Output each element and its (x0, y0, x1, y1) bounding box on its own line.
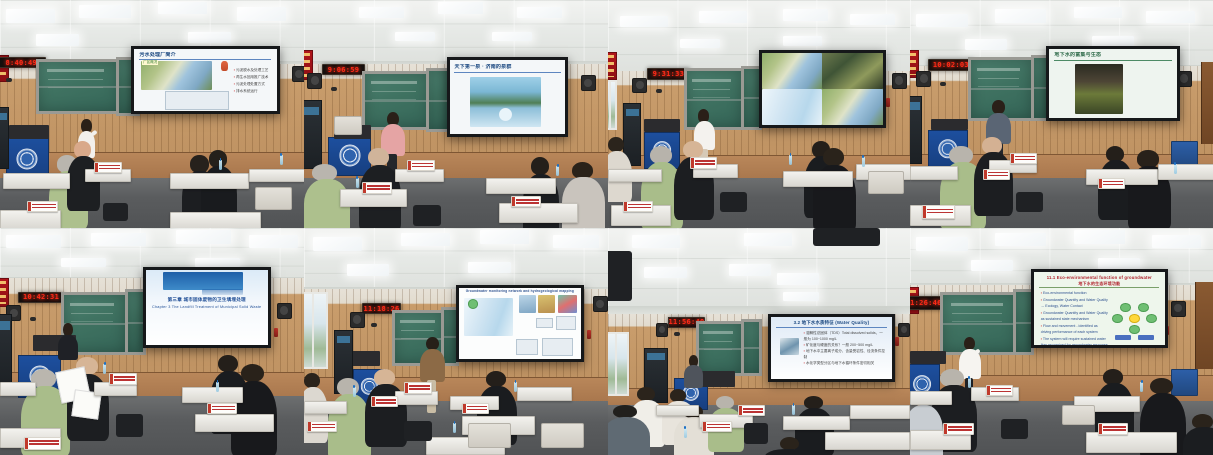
ceiling-light (850, 14, 895, 25)
water-bottle (103, 364, 106, 374)
nameplate (1010, 153, 1037, 164)
ceiling-light (188, 32, 231, 43)
ceiling-light (6, 235, 61, 249)
wall-banner (608, 52, 617, 79)
ceiling-light (347, 264, 390, 275)
slide-bullet: 水化学类型分区与地下水循环条件密切相关 (804, 360, 886, 366)
projection-screen-frame (759, 50, 886, 128)
nameplate (702, 421, 732, 432)
wall-speaker (892, 73, 907, 89)
slide-title: 3.2 地下水水质特征 (Water Quality) (776, 320, 887, 326)
chalkboard (741, 319, 762, 376)
backpack (103, 203, 127, 221)
desk (0, 210, 61, 228)
ceiling-light (777, 273, 819, 284)
wall-banner (0, 278, 9, 308)
nameplate (94, 162, 121, 173)
ceiling-light (783, 36, 822, 45)
ceiling-light (61, 258, 107, 267)
ceiling-light (744, 233, 792, 247)
desk (1086, 432, 1177, 452)
podium-monitor (644, 119, 680, 133)
ceiling-light (620, 16, 668, 27)
ceiling-light (492, 32, 532, 41)
desk (910, 391, 952, 405)
water-bottle (280, 155, 283, 165)
slide-title: 天下第一泉 · 济南的泉群 (454, 64, 560, 70)
slide-title: 11.1 Eco-environmental function of groun… (1039, 275, 1159, 280)
ceiling-light (553, 235, 599, 249)
led-clock-time: 9:06:59 (328, 66, 360, 74)
wall-speaker (292, 66, 304, 82)
ceiling-light (176, 230, 231, 244)
projection-screen: 污水处理厂简介 厂区概况 污泥脱水及处理工艺 再生水回用推广技术 污泥处理处置方… (134, 49, 277, 111)
slide-figure (1075, 64, 1123, 114)
photo-panel-1[interactable]: 8:40:49 污水处理厂简介 厂区概况 污泥脱水及处理工艺 再生水回用推广技术… (0, 0, 304, 228)
ceiling-light (1074, 7, 1122, 18)
chair (541, 423, 584, 448)
ceiling-light (195, 258, 241, 267)
ceiling-projector (813, 228, 879, 246)
nameplate (623, 201, 653, 212)
diagram-label (1115, 335, 1131, 340)
slide-bullet: 溶解性总固体（TDS）Total dissolved solids，一般为 10… (804, 330, 886, 342)
camera-icon (30, 317, 36, 321)
projection-screen-frame: 污水处理厂简介 厂区概况 污泥脱水及处理工艺 再生水回用推广技术 污泥处理处置方… (131, 46, 280, 114)
nameplate (943, 423, 973, 434)
chair (334, 116, 361, 134)
chair (1062, 405, 1095, 425)
door (1195, 282, 1213, 368)
ceiling-light (1074, 230, 1126, 244)
audience-member (1183, 414, 1213, 455)
water-bottle (792, 405, 795, 415)
slide-rule (454, 72, 560, 73)
slide-figure (141, 61, 212, 90)
ceiling-light (916, 14, 968, 28)
diagram-node (1129, 314, 1139, 323)
diagram-node (1129, 325, 1139, 334)
window (608, 80, 617, 130)
backpack (404, 421, 431, 441)
desk (825, 432, 910, 450)
water-bottle (356, 178, 359, 188)
ceiling-light (468, 262, 511, 273)
equipment-rack (304, 100, 322, 168)
backpack (1016, 192, 1043, 213)
photo-panel-8[interactable]: 11:26:46 11.1 Eco-environmental function… (910, 228, 1213, 455)
nameplate (207, 403, 237, 414)
figure-person-icon (221, 61, 228, 71)
podium-monitor (910, 351, 946, 365)
audience-member (1128, 150, 1170, 228)
nameplate (986, 385, 1013, 396)
nameplate (407, 160, 434, 171)
fire-extinguisher-icon (886, 98, 890, 107)
nameplate (983, 169, 1010, 180)
slide-figure (542, 338, 574, 357)
slide-rule (1054, 60, 1171, 61)
projection-screen-frame: Groundwater monitoring network and hydro… (456, 285, 584, 362)
nameplate (690, 157, 717, 168)
slide-rule (139, 59, 271, 60)
desk (182, 387, 243, 403)
projection-screen: 地下水的富集与生态 (1049, 49, 1176, 118)
ceiling-light (6, 9, 55, 23)
photo-collage: 8:40:49 污水处理厂简介 厂区概况 污泥脱水及处理工艺 再生水回用推广技术… (0, 0, 1213, 455)
slide-bullet: Flow and movement - identified as drivin… (1041, 323, 1109, 336)
ceiling-light (995, 9, 1047, 23)
desk (195, 414, 274, 432)
wall-speaker (581, 75, 596, 91)
led-clock-time: 9:31:33 (653, 70, 685, 78)
slide-bullet: 污泥脱水及处理工艺 (234, 67, 273, 74)
diagram-node (1120, 303, 1130, 312)
camera-icon (656, 89, 662, 93)
projection-screen: 3.2 地下水水质特征 (Water Quality) 溶解性总固体（TDS）T… (771, 317, 892, 379)
slide-bullet: 再生水回用推广技术 (234, 74, 273, 81)
water-bottle (453, 423, 456, 433)
ceiling-light (783, 292, 819, 301)
projection-screen-frame: 第三章 城市固体废物的卫生填埋处理 Chapter 3 The Landfill… (143, 267, 271, 349)
ceiling-light (916, 237, 968, 251)
water-bottle (514, 382, 517, 392)
nameplate (738, 405, 765, 416)
wall-speaker (277, 303, 292, 319)
projection-screen-frame: 地下水的富集与生态 (1046, 46, 1179, 121)
photo-panel-5[interactable]: 10:42:31 第三章 城市固体废物的卫生填埋处理 Chapter 3 The… (0, 228, 304, 455)
slide-subtitle: 地下水的生态环境功能 (1039, 281, 1159, 286)
presenter (684, 355, 705, 387)
ceiling-light (517, 7, 563, 18)
water-bottle (1140, 382, 1143, 392)
projection-screen: 11.1 Eco-environmental function of groun… (1034, 272, 1164, 345)
diagram-node (1112, 314, 1122, 323)
diagram-label (1138, 335, 1154, 340)
backpack (116, 414, 143, 437)
ceiling-light (480, 230, 529, 244)
nameplate (1098, 178, 1125, 189)
audience-member (365, 369, 408, 446)
slide-bullet: Groundwater Quantity and Water Quality a… (1041, 310, 1109, 323)
university-seal-icon (17, 148, 38, 169)
backpack (1001, 419, 1028, 439)
slide-title: 第三章 城市固体废物的卫生填埋处理 (151, 297, 263, 303)
equipment-rack (910, 96, 922, 164)
slide-bullet: 污泥处理处置方式 (234, 81, 273, 88)
equipment-rack (0, 107, 9, 169)
desk (3, 173, 70, 189)
audience-member (608, 405, 650, 455)
nameplate (1098, 423, 1128, 434)
wall-speaker (1171, 301, 1186, 317)
desk (486, 178, 556, 194)
wall-speaker (350, 312, 365, 328)
desk (170, 173, 249, 189)
diagram-node (1146, 314, 1156, 323)
slide-figure (516, 339, 538, 355)
water-bottle (353, 387, 356, 397)
window (304, 292, 328, 369)
projection-screen (762, 53, 883, 125)
nameplate (109, 373, 136, 384)
slide-title: 地下水的富集与生态 (1054, 52, 1171, 58)
led-clock-time: 10:42:31 (23, 293, 59, 301)
projection-screen: 第三章 城市固体废物的卫生填埋处理 Chapter 3 The Landfill… (146, 270, 268, 346)
nameplate (511, 196, 541, 207)
slide-bullets: Eco-environmental function Groundwater Q… (1041, 290, 1109, 345)
nameplate (371, 396, 398, 407)
desk (517, 387, 572, 401)
ceiling-light (644, 267, 686, 278)
ceiling-light (158, 2, 207, 13)
desk (783, 171, 852, 187)
slide-figure (519, 295, 536, 314)
ceiling-light (699, 11, 747, 22)
equipment-rack (0, 314, 12, 391)
ceiling-light (91, 233, 146, 247)
ceiling-light (313, 237, 362, 251)
desk (656, 405, 698, 416)
ceiling-light (36, 34, 79, 45)
slide-figure (762, 89, 822, 125)
projection-screen-frame: 3.2 地下水水质特征 (Water Quality) 溶解性总固体（TDS）T… (768, 314, 895, 382)
nameplate (462, 403, 489, 414)
slide-figure (822, 89, 882, 125)
desk (249, 169, 304, 183)
photo-panel-3[interactable]: 9:31:33 (608, 0, 910, 228)
slide-rule (1039, 287, 1159, 288)
wall-speaker (632, 78, 647, 94)
camera-icon (331, 87, 337, 91)
slide-title: 污水处理厂简介 (139, 52, 271, 58)
photo-panel-4[interactable]: 10:02:03 地下水的富集与生态 (910, 0, 1213, 228)
fire-extinguisher-icon (587, 330, 591, 339)
projection-screen: 天下第一泉 · 济南的泉群 (450, 60, 566, 134)
slide-bullet: Groundwater Quantity and Water Quality ↔… (1041, 297, 1109, 310)
ceiling-light (632, 235, 680, 249)
wall-speaker (898, 323, 910, 337)
audience-member (674, 141, 713, 219)
ceiling-light (1152, 235, 1200, 249)
backpack (720, 192, 747, 213)
wall-speaker (593, 296, 608, 312)
ceiling-light (680, 39, 719, 48)
wall-speaker (656, 323, 668, 337)
ceiling-light (995, 233, 1047, 247)
projection-screen-frame: 11.1 Eco-environmental function of groun… (1031, 269, 1167, 348)
slide-subtitle: Chapter 3 The Landfill Treatment of Muni… (151, 305, 263, 310)
wall-monitor (608, 251, 632, 301)
desk (910, 166, 958, 180)
desk (304, 401, 347, 415)
led-clock-time: 10:02:03 (933, 61, 969, 69)
ceiling-light (79, 5, 131, 19)
water-bottle (219, 160, 222, 170)
chalkboard (36, 59, 121, 114)
nameplate (27, 201, 57, 212)
slide-bullet: 排水系统运行 (234, 88, 273, 95)
nameplate (362, 182, 392, 193)
ceiling-light (971, 260, 1013, 271)
slide-caption: 厂区概况 (142, 60, 158, 65)
slide-section-drawing (165, 91, 229, 110)
slide-figure (470, 77, 542, 127)
slide-figure (536, 318, 553, 328)
slide-bullets: 污泥脱水及处理工艺 再生水回用推广技术 污泥处理处置方式 排水系统运行 (234, 67, 273, 94)
water-bottle (684, 428, 687, 438)
projection-screen-frame: 天下第一泉 · 济南的泉群 (447, 57, 569, 137)
slide-figure (822, 53, 882, 89)
ceiling-light (729, 264, 771, 275)
audience-member (765, 437, 813, 455)
nameplate (307, 421, 337, 432)
door (1201, 62, 1213, 144)
water-bottle (862, 157, 865, 167)
projection-screen: Groundwater monitoring network and hydro… (459, 288, 581, 359)
ceiling-light (965, 39, 1007, 50)
chair (255, 187, 291, 210)
audience-member (813, 148, 855, 228)
diagram-node (1138, 303, 1148, 312)
chair (468, 423, 511, 448)
audience-member (231, 364, 277, 455)
presenter (58, 323, 79, 359)
ceiling-light (1098, 258, 1140, 269)
wall-speaker (307, 73, 322, 89)
slide-skyline-graphic (202, 289, 243, 296)
led-clock-time: 11:26:46 (910, 299, 942, 307)
slide-title: Groundwater monitoring network and hydro… (464, 289, 576, 293)
podium-monitor (931, 119, 967, 130)
backpack (413, 205, 440, 226)
desk (608, 169, 662, 183)
camera-icon (6, 78, 12, 82)
slide-figure (558, 295, 577, 314)
photo-panel-7[interactable]: 11:56:40 3.2 地下水水质特征 (Water Quality) 溶解性… (608, 228, 910, 455)
slide-figure (780, 338, 799, 354)
fire-extinguisher-icon (895, 337, 899, 346)
ceiling-light (395, 32, 435, 41)
nameplate (922, 205, 955, 219)
ceiling-light (438, 2, 484, 13)
nameplate (404, 382, 431, 393)
ceiling-light (1146, 11, 1194, 22)
slide-bullets: 溶解性总固体（TDS）Total dissolved solids，一般为 10… (804, 330, 886, 367)
ceiling-light (237, 7, 286, 21)
led-clock: 10:42:31 (18, 292, 64, 303)
university-seal-icon (339, 145, 360, 166)
desk (170, 212, 261, 228)
university-seal-icon (913, 375, 931, 393)
slide-bullet: 地下水中主要离子成分、含量受岩性、径流条件控制 (804, 348, 886, 360)
backpack (744, 423, 768, 443)
desk (1158, 164, 1213, 180)
desk (0, 382, 36, 396)
nameplate (24, 437, 60, 451)
water-bottle (556, 166, 559, 176)
water-bottle (1174, 164, 1177, 174)
slide-banner-graphic (163, 272, 243, 290)
photo-panel-2[interactable]: 9:06:59 天下第一泉 · 济南的泉群 (304, 0, 608, 228)
window (608, 332, 629, 396)
ceiling-light (783, 9, 828, 20)
water-bottle (789, 155, 792, 165)
slide-figure (556, 316, 575, 330)
ceiling-light (401, 233, 450, 247)
slide-figure (538, 295, 555, 314)
water-bottle (968, 378, 971, 388)
ceiling-light (359, 7, 405, 18)
fire-extinguisher-icon (274, 328, 278, 337)
slide-bullet: The system will require sustained water … (1041, 336, 1109, 346)
podium-monitor (9, 125, 49, 139)
water-bottle (216, 382, 219, 392)
slide-rule (776, 327, 887, 328)
camera-icon (371, 323, 377, 327)
chair (868, 171, 904, 194)
wall-speaker (916, 71, 931, 87)
ceiling-light (249, 235, 298, 249)
slide-figure (762, 53, 822, 89)
desk (850, 405, 910, 419)
photo-panel-6[interactable]: 11:18:26 Groundwater monitoring network … (304, 228, 608, 455)
desk (783, 416, 849, 430)
led-clock-time: 8:40:49 (5, 59, 37, 67)
led-clock: 9:06:59 (322, 64, 365, 75)
led-clock: 11:26:46 (910, 296, 943, 310)
